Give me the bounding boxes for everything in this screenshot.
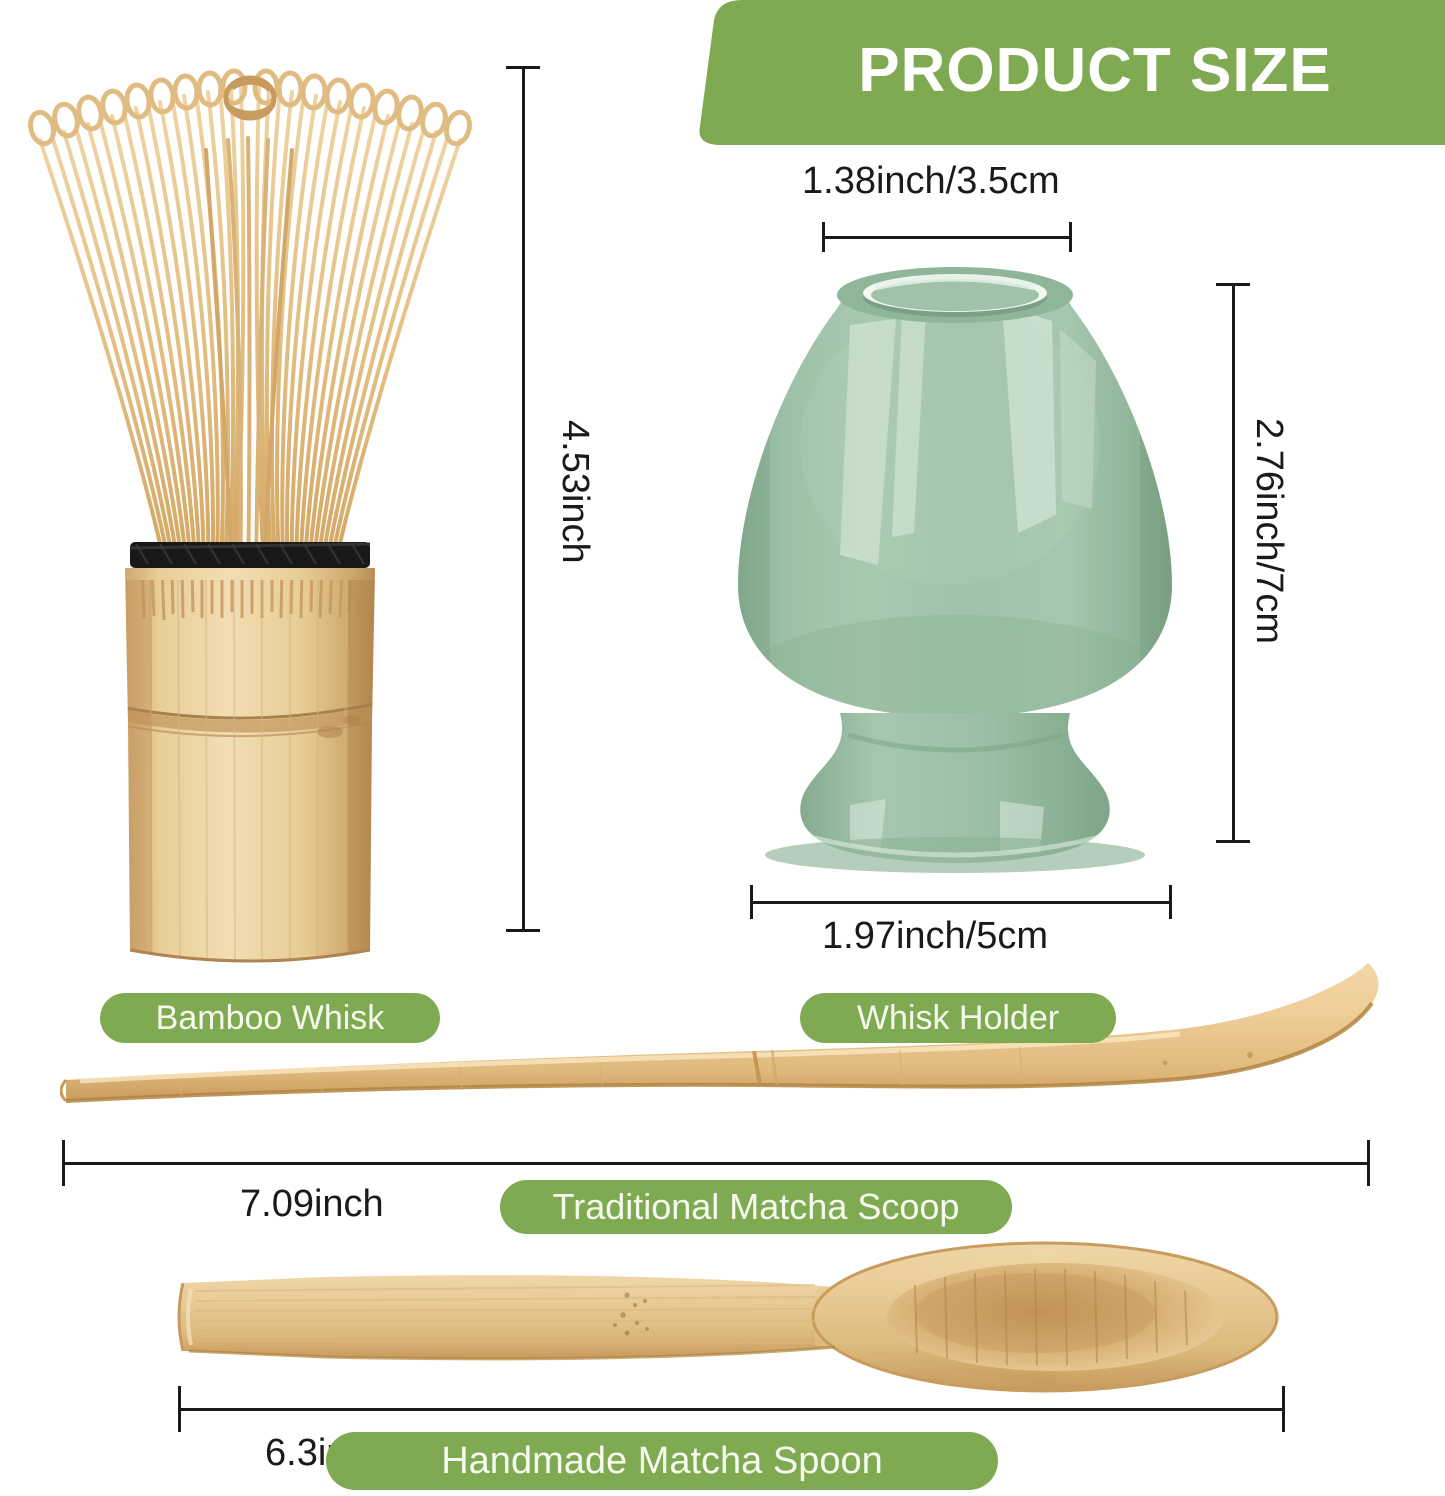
dimension-tick bbox=[1282, 1386, 1285, 1432]
dimension-tick bbox=[1367, 1140, 1370, 1186]
product-label-traditional-matcha-scoop: Traditional Matcha Scoop bbox=[500, 1180, 1012, 1234]
dimension-tick bbox=[178, 1386, 181, 1432]
dimension-tick bbox=[62, 1140, 65, 1186]
product-label-handmade-matcha-spoon: Handmade Matcha Spoon bbox=[326, 1432, 998, 1490]
dimension-line-holder-height bbox=[1232, 283, 1235, 843]
dimension-tick bbox=[1216, 840, 1250, 843]
dimension-tick bbox=[506, 929, 540, 932]
dimension-label-whisk-height: 4.53inch bbox=[553, 420, 596, 564]
dimension-line-holder-base-width bbox=[750, 901, 1172, 904]
dimension-tick bbox=[1069, 222, 1072, 252]
dimension-label-holder-base-width: 1.97inch/5cm bbox=[822, 915, 1048, 958]
matcha-scoop-icon bbox=[60, 955, 1390, 1135]
product-size-infographic: PRODUCT SIZE bbox=[0, 0, 1445, 1496]
ceramic-holder-icon bbox=[700, 265, 1210, 880]
product-label-bamboo-whisk: Bamboo Whisk bbox=[100, 993, 440, 1043]
dimension-label-holder-height: 2.76inch/7cm bbox=[1247, 418, 1290, 644]
dimension-tick bbox=[1169, 885, 1172, 919]
product-size-banner: PRODUCT SIZE bbox=[690, 0, 1445, 145]
product-label-whisk-holder: Whisk Holder bbox=[800, 993, 1116, 1043]
dimension-line-holder-top-width bbox=[822, 236, 1072, 239]
dimension-line-scoop-length bbox=[62, 1162, 1370, 1165]
dimension-label-scoop-length: 7.09inch bbox=[240, 1183, 384, 1226]
whisk-icon bbox=[0, 20, 500, 965]
dimension-line-spoon-length bbox=[178, 1408, 1285, 1411]
banner-title: PRODUCT SIZE bbox=[775, 26, 1415, 116]
dimension-tick bbox=[750, 885, 753, 919]
dimension-line-whisk-height bbox=[522, 66, 525, 932]
matcha-spoon-icon bbox=[175, 1225, 1295, 1410]
dimension-tick bbox=[822, 222, 825, 252]
dimension-tick bbox=[1216, 283, 1250, 286]
dimension-label-holder-top-width: 1.38inch/3.5cm bbox=[802, 160, 1060, 203]
dimension-tick bbox=[506, 66, 540, 69]
